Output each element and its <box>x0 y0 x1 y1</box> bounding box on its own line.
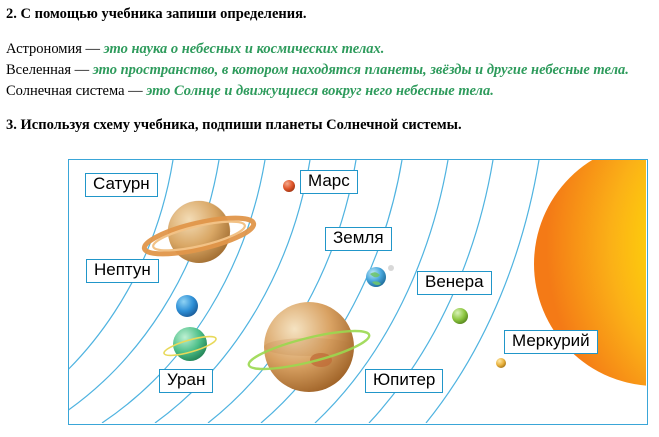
definition-answer: это наука о небесных и космических телах… <box>104 41 385 57</box>
label-venus[interactable]: Венера <box>417 271 492 295</box>
definition-term: Астрономия — <box>6 41 100 57</box>
definition-line-solar-system: Солнечная система — это Солнце и движущи… <box>6 83 494 100</box>
definition-answer: это Солнце и движущиеся вокруг него небе… <box>146 83 494 99</box>
label-mars[interactable]: Марс <box>300 170 358 194</box>
definition-term: Солнечная система — <box>6 83 143 99</box>
definition-line-universe: Вселенная — это пространство, в котором … <box>6 62 629 79</box>
label-uranus[interactable]: Уран <box>159 369 213 393</box>
planet-mars <box>283 180 295 192</box>
definition-answer: это пространство, в котором находятся пл… <box>93 62 629 78</box>
label-neptune[interactable]: Нептун <box>86 259 159 283</box>
planet-uranus <box>162 327 217 361</box>
definition-line-astronomy: Астрономия — это наука о небесных и косм… <box>6 41 384 58</box>
planet-neptune <box>176 295 198 317</box>
label-jupiter[interactable]: Юпитер <box>365 369 443 393</box>
solar-system-diagram: Сатурн Марс Земля Нептун Венера Меркурий… <box>68 159 648 425</box>
task-2-heading: 2. С помощью учебника запиши определения… <box>6 6 307 23</box>
planet-saturn <box>142 201 257 263</box>
worksheet-page: 2. С помощью учебника запиши определения… <box>0 0 659 437</box>
planet-mercury <box>496 358 506 368</box>
label-earth[interactable]: Земля <box>325 227 392 251</box>
definition-term: Вселенная — <box>6 62 89 78</box>
label-saturn[interactable]: Сатурн <box>85 173 158 197</box>
task-3-heading: 3. Используя схему учебника, подпиши пла… <box>6 117 462 134</box>
solar-system-illustration <box>69 160 646 423</box>
planet-venus <box>452 308 468 324</box>
planet-jupiter <box>246 302 372 392</box>
label-mercury[interactable]: Меркурий <box>504 330 598 354</box>
